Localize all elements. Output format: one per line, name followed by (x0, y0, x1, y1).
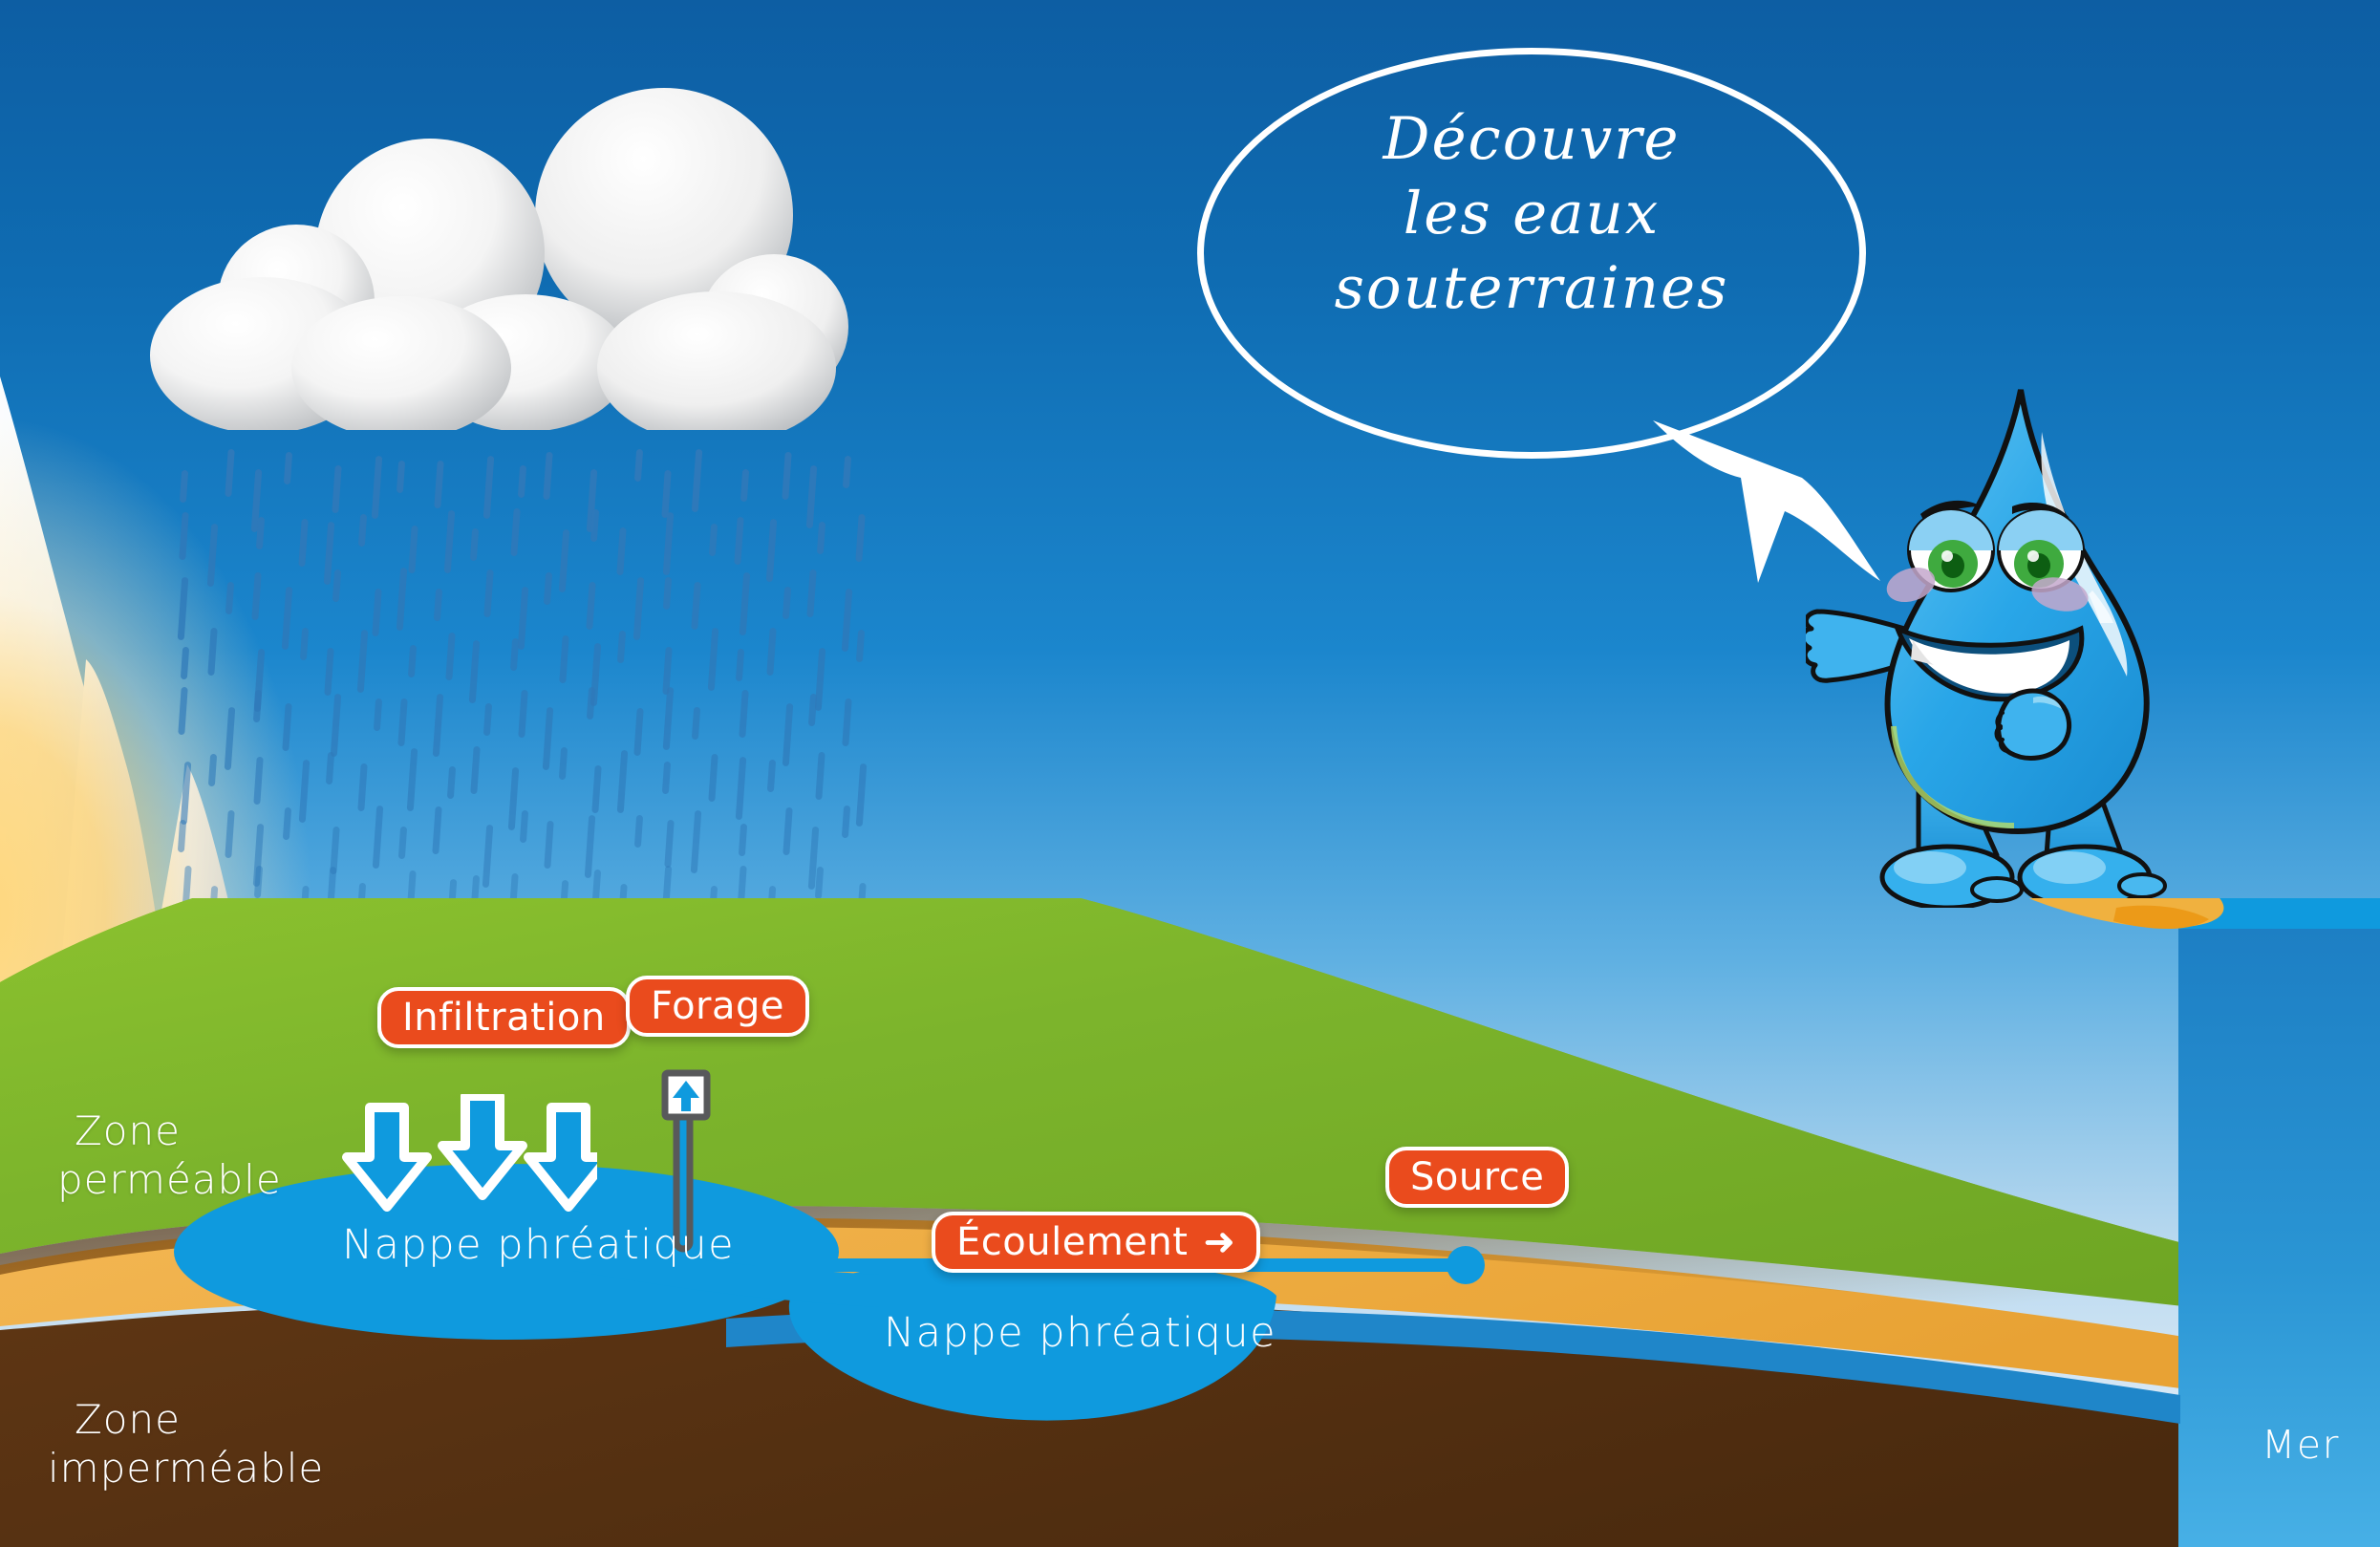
label-ecoulement-text: Écoulement (956, 1220, 1188, 1264)
rain-drop (208, 754, 217, 786)
rain-drop (691, 810, 702, 873)
rain-drop (331, 694, 342, 757)
zone-impermeable-line2: imperméable (48, 1444, 324, 1493)
rain-drop (252, 572, 262, 620)
rain-drop (739, 824, 747, 856)
rain-drop (469, 640, 481, 703)
speech-bubble: Découvre les eaux souterraines (1197, 48, 1866, 459)
illustration-canvas: Découvre les eaux souterraines (0, 0, 2380, 1547)
rain-drop (559, 529, 570, 592)
rain-drop (766, 519, 778, 582)
rain-drop (373, 806, 384, 869)
rain-drop (766, 628, 776, 676)
rain-drop (225, 810, 234, 858)
rain-drop (586, 687, 594, 720)
zone-permeable-line1: Zone (75, 1107, 282, 1155)
rain-drop (855, 514, 865, 562)
rain-drop (225, 707, 236, 770)
rain-drop (207, 524, 219, 587)
rain-drop (543, 452, 552, 500)
rain-drop (298, 759, 310, 822)
rain-drop (283, 452, 291, 484)
rain-drop (225, 449, 234, 497)
speech-bubble-text: Découvre les eaux souterraines (1204, 102, 1859, 326)
rain-drop (559, 635, 568, 683)
rain-drop (543, 706, 554, 769)
label-ecoulement[interactable]: Écoulement ➜ (932, 1212, 1260, 1273)
rain-drop (709, 524, 718, 556)
label-nappe-phreatique-upper: Nappe phréatique (342, 1221, 735, 1269)
rain-drop (662, 470, 672, 518)
label-infiltration-text: Infiltration (402, 996, 606, 1040)
rain-drop (373, 589, 382, 636)
rain-drop (634, 815, 643, 848)
rain-drop (587, 582, 596, 630)
rain-drop (766, 759, 775, 791)
rain-drop (808, 694, 817, 726)
rain-drop (445, 633, 455, 680)
rain-drop (253, 689, 262, 721)
label-source-text: Source (1410, 1155, 1544, 1199)
spring-point-icon (1447, 1246, 1485, 1284)
rain-drop (740, 469, 749, 502)
rain-drop (735, 516, 744, 564)
rain-drop (633, 708, 643, 756)
rain-drop (592, 869, 601, 901)
rain-drop (709, 754, 718, 802)
rain-drop (815, 648, 826, 711)
rain-drop (397, 568, 408, 631)
rain-drop (617, 527, 627, 575)
rain-drop (254, 757, 264, 805)
rain-drop (692, 582, 701, 630)
rain-drop (634, 449, 643, 482)
rain-drop (470, 528, 479, 561)
rain-drop (433, 694, 444, 757)
rain-drop (470, 746, 480, 794)
rain-drop (518, 465, 526, 498)
rain-drop (408, 645, 417, 677)
rain-drop (663, 577, 672, 610)
rain-drop (207, 628, 217, 676)
rain-drop (180, 470, 188, 503)
rain-drop (299, 519, 309, 567)
rain-drop (735, 757, 746, 820)
rain-drop (178, 687, 187, 735)
rain-drop (406, 748, 418, 811)
rain-drop (739, 572, 750, 635)
speech-line-2: les eaux (1204, 177, 1859, 251)
rain-drop (855, 763, 867, 827)
cloud-icon (115, 76, 869, 430)
label-forage[interactable]: Forage (626, 976, 809, 1037)
rain-drop (178, 820, 186, 852)
rain-drop (357, 629, 369, 692)
zone-impermeable-line1: Zone (75, 1395, 324, 1444)
rain-drop (510, 508, 520, 556)
label-zone-impermeable: Zone imperméable (75, 1395, 324, 1493)
rain-drop (815, 752, 825, 800)
rain-drop (483, 703, 492, 736)
rain-drop (332, 465, 341, 513)
rain-drop (663, 687, 675, 750)
rain-drop (444, 510, 456, 573)
rain-drop (181, 646, 189, 678)
rain-drop (662, 762, 671, 794)
rain-drop (181, 762, 192, 825)
rain-drop (397, 461, 405, 493)
water-droplet-mascot-icon (1806, 373, 2236, 908)
rain-drop (843, 456, 851, 488)
rain-drop (691, 449, 702, 512)
rain-drop (782, 452, 791, 500)
rain-drop (398, 827, 407, 859)
rain-drop (815, 867, 824, 899)
rain-drop (590, 509, 599, 542)
rain-drop (283, 807, 291, 840)
rain-drop (256, 516, 265, 548)
rain-drop (616, 749, 628, 812)
rain-drop (483, 456, 495, 519)
rain-drop (842, 589, 853, 652)
rain-drop (326, 752, 334, 784)
rain-drop (633, 577, 645, 640)
rain-drop (806, 465, 818, 528)
rain-drop (482, 825, 494, 888)
rain-drop (178, 577, 189, 640)
label-infiltration[interactable]: Infiltration (377, 987, 631, 1048)
rain-drop (782, 703, 793, 766)
rain-drop (374, 698, 382, 731)
rain-drop (559, 747, 568, 780)
rain-drop (434, 589, 442, 621)
rain-drop (433, 806, 442, 854)
rain-drop (180, 512, 189, 560)
rain-drop (807, 569, 817, 617)
rain-drop (408, 526, 418, 573)
rain-drop (446, 766, 455, 799)
rain-drop (282, 586, 293, 649)
rain-drop (323, 522, 334, 585)
rain-drop (508, 767, 520, 830)
zone-permeable-line2: perméable (57, 1155, 282, 1204)
rain-drop (544, 572, 552, 605)
rain-drop (585, 815, 596, 878)
label-nappe-phreatique-lower: Nappe phréatique (884, 1309, 1276, 1357)
rain-drop (225, 582, 234, 614)
rain-drop (817, 522, 825, 554)
rain-drop (692, 707, 700, 740)
rain-drop (483, 569, 493, 616)
rain-drop (519, 690, 528, 738)
arrow-down-icon (339, 1094, 597, 1223)
label-zone-permeable: Zone perméable (75, 1107, 282, 1204)
rain-drop (520, 810, 528, 843)
rain-drop (544, 820, 553, 868)
rain-drop (358, 514, 367, 547)
rain-drop (591, 765, 601, 813)
label-source[interactable]: Source (1385, 1147, 1569, 1208)
rain-drop (253, 865, 262, 897)
rain-drop (282, 703, 291, 751)
rain-drop (372, 456, 383, 519)
rain-drop (783, 586, 791, 618)
rain-drop (736, 648, 744, 680)
rain-drop (510, 637, 519, 670)
rain-drop (856, 629, 865, 661)
rain-drop (397, 698, 407, 746)
rain-drop (739, 689, 748, 737)
rain-drop (434, 461, 443, 508)
speech-line-1: Découvre (1204, 102, 1859, 177)
rain-drop (617, 631, 626, 663)
rain-drop (663, 512, 675, 575)
rain-drop (332, 569, 340, 602)
speech-line-3: souterraines (1204, 251, 1859, 326)
rain-drop (783, 807, 792, 855)
rain-drop (842, 806, 850, 838)
label-forage-text: Forage (651, 984, 784, 1028)
rain-drop (842, 698, 851, 746)
rain-drop (517, 587, 528, 650)
arrow-right-icon: ➜ (1203, 1223, 1235, 1261)
rain-drop (708, 628, 719, 691)
rain-drop (299, 628, 308, 660)
label-mer: Mer (2262, 1422, 2340, 1468)
rain-drop (357, 763, 367, 811)
rain-drop (325, 648, 334, 696)
rain-drop (664, 820, 674, 868)
